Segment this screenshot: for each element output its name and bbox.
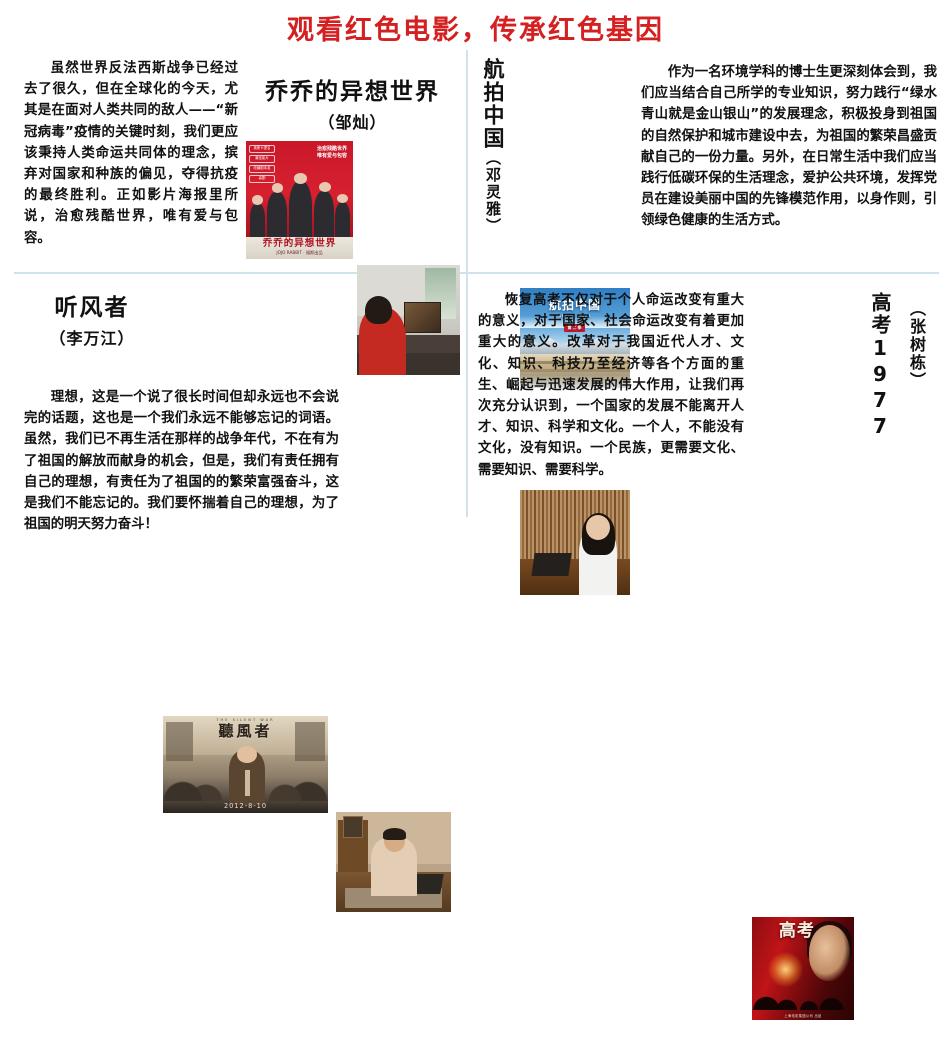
- film-title-block-aerial-china: 航拍中国（邓灵雅）: [478, 58, 508, 264]
- horizontal-divider: [14, 272, 939, 274]
- bottom-left-body-text: 理想，这是一个说了很长时间但却永远也不会说完的话题，这也是一个我们永远不能够忘记…: [24, 387, 339, 535]
- poster-subtitle: JOJO RABBIT · 福斯出品: [246, 250, 353, 256]
- gaokao-1977-poster: 高考 上海电影集团公司 出品: [752, 917, 854, 1020]
- poster-title-bar: 乔乔的异想世界 JOJO RABBIT · 福斯出品: [246, 237, 353, 259]
- poster-characters: [246, 179, 353, 237]
- poster-cn-title-silentwar: 聽風者: [163, 720, 328, 741]
- badge-1: 奥斯卡提名: [249, 145, 275, 153]
- the-silent-war-poster: THE SILENT WAR 聽風者 2012-8-10: [163, 716, 328, 813]
- film-author-jojo: （邹灿）: [245, 109, 460, 133]
- poster-release-date: 2012-8-10: [163, 802, 328, 810]
- poster-tagline-line2: 唯有爱与包容: [285, 153, 347, 160]
- film-title-gaokao-text: 高考1977: [868, 292, 892, 440]
- poster-cn-title-gaokao: 高考: [774, 923, 819, 940]
- student-at-desk-photo: [336, 812, 451, 912]
- vertical-divider-bottom: [466, 274, 468, 517]
- film-title-silent-war: 听风者: [22, 288, 162, 322]
- film-author-silent-war: （李万江）: [22, 325, 162, 349]
- bottom-left-film-title-block: 听风者 （李万江）: [22, 288, 162, 349]
- poster-page: 观看红色电影，传承红色基因 虽然世界反法西斯战争已经过去了很久，但在全球化的今天…: [0, 0, 951, 519]
- poster-tagline: 治愈残酷世界 唯有爱与包容: [285, 146, 347, 170]
- student-in-library-photo: [520, 490, 630, 595]
- top-left-body-text: 虽然世界反法西斯战争已经过去了很久，但在全球化的今天，尤其是在面对人类共同的敌人…: [24, 58, 238, 249]
- page-title: 观看红色电影，传承红色基因: [0, 8, 951, 47]
- film-author-gaokao-text: （张树栋）: [907, 300, 926, 390]
- poster-cn-title: 乔乔的异想世界: [246, 237, 353, 250]
- film-title-aerial-china: 航拍中国: [481, 58, 505, 150]
- poster-tagline-line1: 治愈残酷世界: [285, 146, 347, 153]
- bottom-right-body-text: 恢复高考不仅对于个人命运改变有重大的意义，对于国家、社会命运改变有着更加重大的意…: [478, 290, 744, 481]
- badge-3: 改编剧本奖: [249, 165, 275, 173]
- jojo-rabbit-poster: 奥斯卡提名 最佳影片 改编剧本奖 喜剧 治愈残酷世界 唯有爱与包容 乔乔的异想世…: [246, 141, 353, 259]
- top-right-body-text: 作为一名环境学科的博士生更深刻体会到，我们应当结合自己所学的专业知识，努力践行“…: [641, 62, 937, 232]
- poster-credits: 上海电影集团公司 出品: [752, 1014, 854, 1019]
- badge-2: 最佳影片: [249, 155, 275, 163]
- film-author-aerial-china: （邓灵雅）: [484, 150, 502, 235]
- top-left-film-title-block: 乔乔的异想世界 （邹灿）: [245, 72, 460, 133]
- vertical-divider-top: [466, 50, 468, 272]
- film-title-gaokao-1977: 高考1977: [866, 292, 895, 504]
- film-title-jojo: 乔乔的异想世界: [245, 72, 460, 106]
- film-author-gaokao: （张树栋）: [904, 300, 928, 500]
- student-watching-film-photo: [357, 265, 460, 375]
